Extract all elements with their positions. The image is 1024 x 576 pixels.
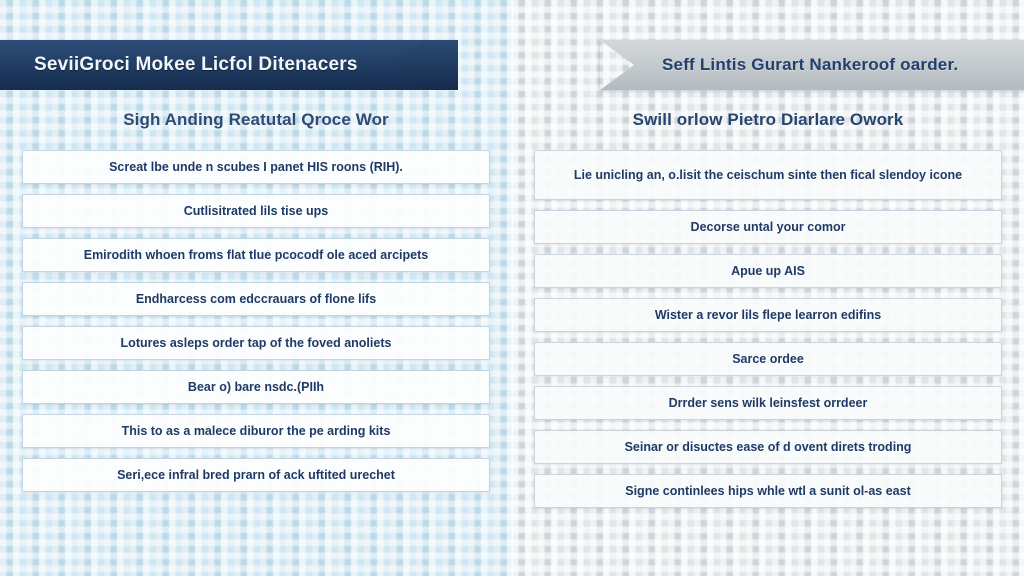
list-item[interactable]: Lotures asleps order tap of the foved an… [22,326,490,360]
right-panel: Seff Lintis Gurart Nankeroof oarder. Swi… [512,0,1024,576]
list-item[interactable]: Sarce ordee [534,342,1002,376]
list-item[interactable]: Lie unicling an, o.lisit the ceischum si… [534,150,1002,200]
list-item[interactable]: Signe continlees hips whle wtl a sunit o… [534,474,1002,508]
list-item[interactable]: Bear o) bare nsdc.(PIIh [22,370,490,404]
list-item[interactable]: Cutlisitrated lils tise ups [22,194,490,228]
left-subtitle: Sigh Anding Reatutal Qroce Wor [0,110,512,130]
list-item[interactable]: Apue up AIS [534,254,1002,288]
list-item[interactable]: Drrder sens wilk leinsfest orrdeer [534,386,1002,420]
list-item[interactable]: Screat lbe unde n scubes I panet HIS roo… [22,150,490,184]
left-ribbon-header: SeviiGroci Mokee Licfol Ditenacers [0,40,458,90]
list-item[interactable]: Emirodith whoen froms flat tlue pcocodf … [22,238,490,272]
right-ribbon-header: Seff Lintis Gurart Nankeroof oarder. [600,40,1024,90]
list-item[interactable]: Wister a revor lils flepe learron edifin… [534,298,1002,332]
right-subtitle: Swill orlow Pietro Diarlare Owork [512,110,1024,130]
list-item[interactable]: Endharcess com edccrauars of flone lifs [22,282,490,316]
left-panel: SeviiGroci Mokee Licfol Ditenacers Sigh … [0,0,512,576]
list-item[interactable]: Decorse untal your comor [534,210,1002,244]
left-ribbon-title: SeviiGroci Mokee Licfol Ditenacers [34,54,358,76]
comparison-layout: SeviiGroci Mokee Licfol Ditenacers Sigh … [0,0,1024,576]
right-ribbon-title: Seff Lintis Gurart Nankeroof oarder. [662,55,958,75]
list-item[interactable]: This to as a malece diburor the pe ardin… [22,414,490,448]
left-row-list: Screat lbe unde n scubes I panet HIS roo… [22,150,490,492]
list-item[interactable]: Seinar or disuctes ease of d ovent diret… [534,430,1002,464]
list-item[interactable]: Seri,ece infral bred prarn of ack uftite… [22,458,490,492]
right-row-list: Lie unicling an, o.lisit the ceischum si… [534,150,1002,508]
